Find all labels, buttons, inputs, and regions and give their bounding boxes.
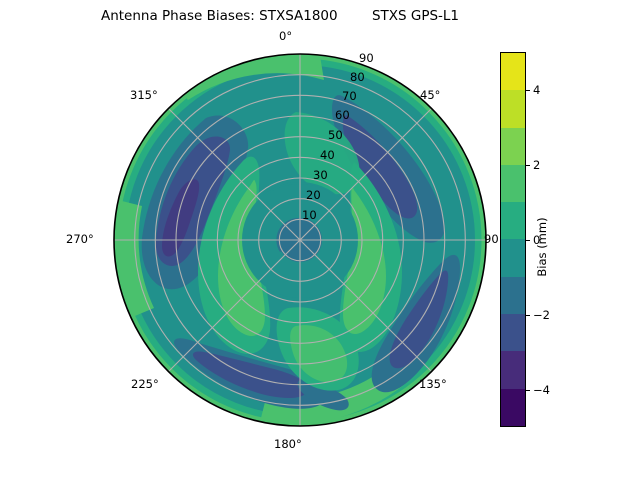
- colorbar-tick-0: [526, 240, 530, 241]
- colorbar-segment: [501, 128, 525, 165]
- polar-grid: [114, 54, 486, 426]
- colorbar-ticklabel-4: 4: [533, 83, 540, 97]
- angular-tick-135: 135°: [419, 377, 447, 391]
- page-title: Antenna Phase Biases: STXSA1800 STXS GPS…: [0, 8, 560, 24]
- colorbar-segment: [501, 53, 525, 90]
- colorbar-segment: [501, 389, 525, 426]
- radial-tick-90: 90: [359, 51, 374, 65]
- angular-tick-315: 315°: [130, 88, 158, 102]
- colorbar-ticklabel-2: 2: [533, 158, 540, 172]
- colorbar-segment: [501, 314, 525, 351]
- angular-tick-0: 0°: [279, 29, 292, 43]
- colorbar-segment: [501, 90, 525, 127]
- colorbar-ticklabel-m4: −4: [533, 383, 550, 397]
- polar-contour-svg: [110, 50, 490, 430]
- polar-plot-axes: [110, 50, 490, 430]
- matplotlib-figure: Antenna Phase Biases: STXSA1800 STXS GPS…: [0, 0, 640, 480]
- colorbar-segment: [501, 202, 525, 239]
- angular-tick-270: 270°: [66, 232, 94, 246]
- radial-tick-10: 10: [302, 208, 317, 222]
- angular-tick-225: 225°: [131, 377, 159, 391]
- colorbar-axis-label: Bias (mm): [535, 217, 549, 276]
- angular-tick-90: 90: [484, 232, 499, 246]
- radial-tick-20: 20: [306, 188, 321, 202]
- radial-tick-50: 50: [328, 128, 343, 142]
- angular-tick-180: 180°: [274, 437, 302, 451]
- colorbar-tick-m4: [526, 390, 530, 391]
- radial-tick-40: 40: [320, 148, 335, 162]
- colorbar-segment: [501, 351, 525, 388]
- radial-tick-70: 70: [342, 89, 357, 103]
- colorbar-tick-2: [526, 165, 530, 166]
- radial-tick-30: 30: [313, 168, 328, 182]
- colorbar-segment: [501, 277, 525, 314]
- colorbar-tick-4: [526, 90, 530, 91]
- angular-tick-45: 45°: [420, 88, 440, 102]
- radial-tick-80: 80: [350, 70, 365, 84]
- colorbar-segment: [501, 165, 525, 202]
- colorbar: 4 2 0 −2 −4: [500, 52, 526, 427]
- colorbar-ticklabel-m2: −2: [533, 308, 550, 322]
- radial-tick-60: 60: [335, 108, 350, 122]
- colorbar-segment: [501, 239, 525, 276]
- colorbar-gradient: [500, 52, 526, 427]
- colorbar-tick-m2: [526, 315, 530, 316]
